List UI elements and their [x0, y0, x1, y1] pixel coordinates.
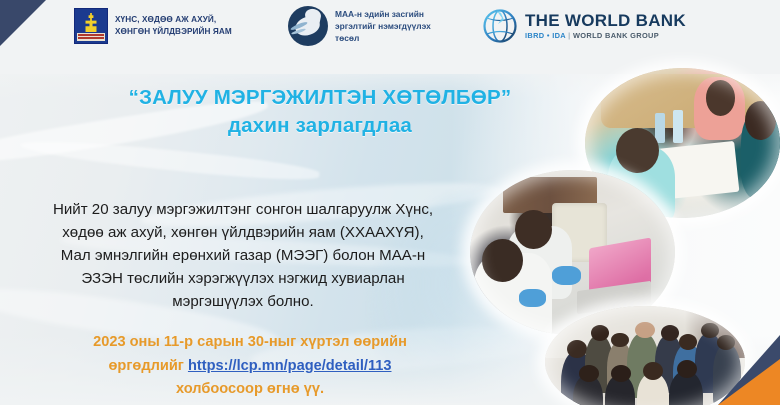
submit-instruction-line: холбоосоор өгнө үү. — [28, 378, 472, 402]
page-title: “ЗАЛУУ МЭРГЭЖИЛТЭН ХӨТӨЛБӨР” — [0, 86, 640, 110]
maa-logo-line1: МАА-н эдийн засгийн — [335, 8, 431, 20]
call-to-action: 2023 оны 11-р сарын 30-ныг хүртэл өөрийн… — [28, 331, 472, 402]
photo-detail-person — [585, 335, 613, 393]
body-paragraph: Нийт 20 залуу мэргэжилтэнг сонгон шалгар… — [12, 199, 474, 314]
announcement-poster: ХҮНС, ХӨДӨӨ АЖ АХУЙ, ХӨНГӨН ҮЙЛДВЭРИЙН Я… — [0, 0, 780, 405]
world-bank-logo-text: THE WORLD BANK IBRD • IDA | WORLD BANK G… — [525, 12, 686, 39]
photo-detail-person — [669, 371, 703, 405]
photo-detail-head — [679, 334, 697, 350]
body-line: ЭЗЭН төслийн хэрэгжүүлэх нэгжид хувиарла… — [12, 268, 474, 291]
ministry-logo-line1: ХҮНС, ХӨДӨӨ АЖ АХУЙ, — [115, 14, 232, 26]
photo-detail-person — [655, 335, 683, 393]
ministry-logo-line2: ХӨНГӨН ҮЙЛДВЭРИЙН ЯАМ — [115, 26, 232, 38]
world-bank-subtitle-divider: | — [568, 31, 570, 40]
world-bank-subtitle: IBRD • IDA | WORLD BANK GROUP — [525, 32, 686, 39]
body-line: мэргэшүүлэх болно. — [12, 291, 474, 314]
photo-detail-head — [579, 365, 599, 382]
photo-detail-head — [611, 333, 629, 348]
ministry-logo-text: ХҮНС, ХӨДӨӨ АЖ АХУЙ, ХӨНГӨН ҮЙЛДВЭРИЙН Я… — [115, 14, 232, 37]
application-link-prefix: өргөдлийг — [109, 358, 188, 374]
photo-detail-person — [573, 375, 603, 405]
maa-logo-line2: эргэлтийг нэмэгдүүлэх — [335, 20, 431, 32]
maa-logo-line3: төсөл — [335, 32, 431, 44]
orange-triangle-icon — [718, 359, 780, 405]
photo-detail-head — [643, 362, 663, 380]
photo-detail-person — [741, 107, 780, 200]
group-photo — [545, 306, 745, 405]
body-line: Нийт 20 залуу мэргэжилтэнг сонгон шалгар… — [12, 199, 474, 222]
world-bank-logo: THE WORLD BANK IBRD • IDA | WORLD BANK G… — [482, 8, 686, 44]
maa-project-logo-text: МАА-н эдийн засгийн эргэлтийг нэмэгдүүлэ… — [335, 8, 431, 45]
maa-project-logo: МАА-н эдийн засгийн эргэлтийг нэмэгдүүлэ… — [288, 6, 431, 46]
photo-detail-head — [677, 360, 697, 378]
photo-detail-shelf — [503, 177, 597, 213]
photo-detail-person — [507, 226, 573, 299]
ministry-logo: ХҮНС, ХӨДӨӨ АЖ АХУЙ, ХӨНГӨН ҮЙЛДВЭРИЙН Я… — [74, 8, 232, 44]
photo-detail-person — [673, 344, 703, 404]
world-bank-globe-icon — [482, 8, 518, 44]
world-bank-group-label: WORLD BANK GROUP — [573, 31, 659, 40]
photo-detail-head — [482, 239, 523, 282]
world-bank-ibrd-ida: IBRD • IDA — [525, 31, 566, 40]
photo-detail-head — [706, 80, 735, 116]
photo-detail-head — [567, 340, 587, 358]
photo-detail-head — [591, 325, 609, 341]
photo-detail-laptop — [589, 237, 651, 301]
photo-detail-person — [605, 375, 635, 405]
body-line: хөдөө аж ахуй, хөнгөн үйлдвэрийн яам (ХХ… — [12, 222, 474, 245]
world-bank-title: THE WORLD BANK — [525, 12, 686, 29]
photo-detail-head — [515, 210, 552, 250]
logo-row: ХҮНС, ХӨДӨӨ АЖ АХУЙ, ХӨНГӨН ҮЙЛДВЭРИЙН Я… — [0, 0, 780, 58]
photo-detail-bottle — [655, 113, 665, 143]
photo-detail-head — [701, 323, 719, 339]
photo-detail-person — [637, 373, 669, 405]
photo-detail-person — [474, 253, 552, 336]
livestock-fish-circle-icon — [288, 6, 328, 46]
photo-detail-person — [627, 333, 659, 398]
deadline-line: 2023 оны 11-р сарын 30-ныг хүртэл өөрийн — [28, 331, 472, 355]
photo-detail-head — [635, 322, 655, 339]
application-link-line: өргөдлийг https://lcp.mn/page/detail/113 — [28, 355, 472, 379]
photo-detail-person — [694, 77, 745, 140]
photo-detail-bottle — [673, 110, 683, 143]
photo-detail-glove — [519, 289, 546, 307]
page-subtitle: дахин зарлагдлаа — [0, 114, 640, 138]
mongolia-state-emblem-icon — [74, 8, 108, 44]
photo-detail-person — [607, 342, 633, 398]
photo-detail-monitor — [552, 203, 607, 262]
photo-detail-head — [611, 365, 631, 382]
photo-detail-wall — [545, 306, 745, 358]
photo-detail-head — [661, 325, 679, 341]
photo-detail-glove — [552, 266, 581, 286]
photo-detail-paper — [633, 141, 739, 202]
application-link[interactable]: https://lcp.mn/page/detail/113 — [188, 358, 392, 374]
body-line: Мал эмнэлгийн ерөнхий газар (МЭЭГ) болон… — [12, 245, 474, 268]
photo-detail-head — [745, 101, 776, 140]
photo-detail-person — [561, 351, 593, 405]
